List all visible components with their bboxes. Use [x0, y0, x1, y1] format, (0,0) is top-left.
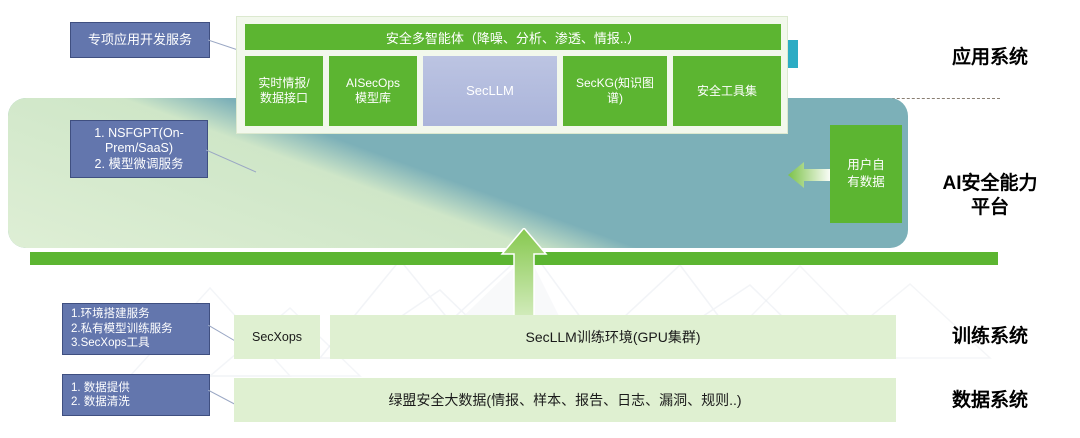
platform-base-bar	[30, 252, 998, 265]
module-seckg-knowledge-graph[interactable]: SecKG(知识图 谱)	[563, 56, 667, 126]
module-realtime-intel-line-1: 实时情报/	[258, 76, 309, 91]
callout-training-line-1: 1.环境搭建服务	[71, 307, 150, 321]
module-realtime-intel-line-2: 数据接口	[258, 91, 309, 106]
callout-nsfgpt-line-2: Prem/SaaS)	[105, 141, 173, 157]
module-toolset-line-1: 安全工具集	[697, 84, 757, 99]
user-data-line-2: 有数据	[847, 174, 885, 191]
platform-modules-container: 安全多智能体（降噪、分析、渗透、情报..） 实时情报/ 数据接口 AISecOp…	[236, 16, 788, 134]
module-aisecops-model-library[interactable]: AISecOps 模型库	[329, 56, 417, 126]
module-seckg-line-2: 谱)	[576, 91, 654, 106]
training-label-secxops[interactable]: SecXops	[234, 315, 320, 359]
section-title-ai-platform: AI安全能力 平台	[905, 172, 1075, 220]
callout-data-line-2: 2. 数据清洗	[71, 395, 130, 409]
user-data-line-1: 用户自	[847, 157, 885, 174]
callout-training-line-3: 3.SecXops工具	[71, 336, 150, 350]
section-title-training: 训练系统	[905, 325, 1075, 349]
module-agent-header[interactable]: 安全多智能体（降噪、分析、渗透、情报..）	[245, 24, 781, 50]
section-title-data: 数据系统	[905, 389, 1075, 413]
module-aisecops-line-1: AISecOps	[346, 76, 400, 91]
callout-data-line-1: 1. 数据提供	[71, 381, 130, 395]
callout-data-services: 1. 数据提供 2. 数据清洗	[62, 374, 210, 416]
module-secllm[interactable]: SecLLM	[423, 56, 557, 126]
diagram-canvas: 专项应用开发服务 SOC/XDR/SIEM MDR/MSSP Pentest A…	[0, 0, 1080, 438]
module-seckg-line-1: SecKG(知识图	[576, 76, 654, 91]
training-main-box[interactable]: SecLLM训练环境(GPU集群)	[330, 315, 896, 359]
callout-app-dev-service-line-1: 专项应用开发服务	[88, 32, 192, 48]
module-security-toolset[interactable]: 安全工具集	[673, 56, 781, 126]
module-realtime-intel-data-api[interactable]: 实时情报/ 数据接口	[245, 56, 323, 126]
module-secllm-line-1: SecLLM	[466, 83, 514, 99]
user-owned-data-box[interactable]: 用户自 有数据	[830, 125, 902, 223]
section-title-ai-platform-line-1: AI安全能力	[905, 172, 1075, 196]
callout-nsfgpt-line-1: 1. NSFGPT(On-	[94, 126, 184, 142]
callout-nsfgpt-service: 1. NSFGPT(On- Prem/SaaS) 2. 模型微调服务	[70, 120, 208, 178]
section-title-ai-platform-line-2: 平台	[905, 196, 1075, 220]
section-title-application: 应用系统	[905, 46, 1075, 70]
callout-training-services: 1.环境搭建服务 2.私有模型训练服务 3.SecXops工具	[62, 303, 210, 355]
callout-training-line-2: 2.私有模型训练服务	[71, 322, 173, 336]
module-aisecops-line-2: 模型库	[346, 91, 400, 106]
callout-nsfgpt-line-3: 2. 模型微调服务	[95, 157, 184, 173]
data-main-box[interactable]: 绿盟安全大数据(情报、样本、报告、日志、漏洞、规则..)	[234, 378, 896, 422]
callout-app-dev-service: 专项应用开发服务	[70, 22, 210, 58]
